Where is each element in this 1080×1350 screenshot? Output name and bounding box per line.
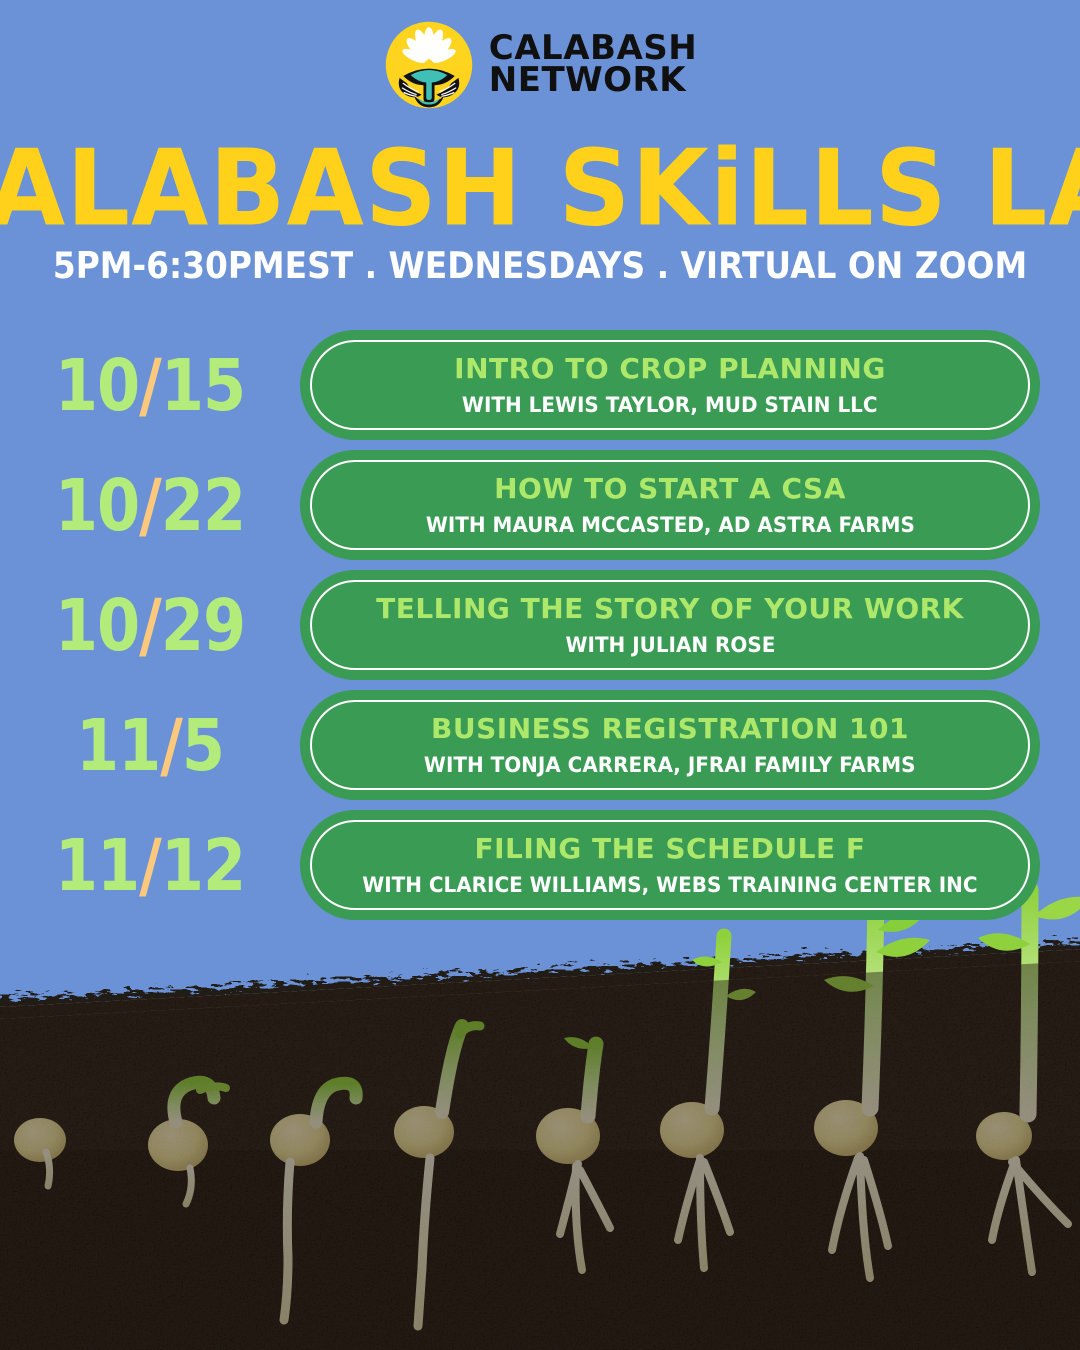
session-date-slash: / [139,583,161,667]
session-date-month: 11 [55,823,139,907]
session-date-slash: / [139,463,161,547]
page-subtitle: 5PM-6:30PMEST . WEDNESDAYS . VIRTUAL ON … [0,245,1080,287]
session-pill[interactable]: TELLING THE STORY OF YOUR WORKWITH JULIA… [300,570,1040,680]
session-date-day: 5 [182,703,224,787]
session-date: 10/29 [0,583,300,667]
seedling-stage-6 [660,936,756,1268]
seedling-stage-1 [14,1118,66,1186]
session-date: 10/22 [0,463,300,547]
session-row: 10/29TELLING THE STORY OF YOUR WORKWITH … [0,570,1080,680]
session-title: BUSINESS REGISTRATION 101 [431,715,909,743]
seedling-stage-3 [270,1083,356,1320]
session-title: FILING THE SCHEDULE F [475,835,866,863]
session-pill[interactable]: FILING THE SCHEDULE FWITH CLARICE WILLIA… [300,810,1040,920]
session-presenter: WITH JULIAN ROSE [565,635,775,656]
session-date: 10/15 [0,343,300,427]
session-pill[interactable]: INTRO TO CROP PLANNINGWITH LEWIS TAYLOR,… [300,330,1040,440]
brand-name-line2: NETWORK [489,65,697,97]
session-row: 10/15INTRO TO CROP PLANNINGWITH LEWIS TA… [0,330,1080,440]
session-date: 11/12 [0,823,300,907]
session-row: 10/22HOW TO START A CSAWITH MAURA MCCAST… [0,450,1080,560]
seedling-stage-7 [814,902,930,1278]
session-date-day: 12 [161,823,245,907]
seedling-stage-5 [536,1037,610,1270]
session-date: 11/5 [0,703,300,787]
session-date-slash: / [139,823,161,907]
session-presenter: WITH CLARICE WILLIAMS, WEBS TRAINING CEN… [362,875,977,896]
seedling-stage-4 [394,1026,480,1326]
session-date-month: 10 [55,583,139,667]
session-pill[interactable]: HOW TO START A CSAWITH MAURA MCCASTED, A… [300,450,1040,560]
page-title: CALABASH SKiLLS LAB [0,128,1080,250]
session-row: 11/12FILING THE SCHEDULE FWITH CLARICE W… [0,810,1080,920]
brand-logo-block: CALABASH NETWORK [0,14,1080,116]
session-presenter: WITH MAURA MCCASTED, AD ASTRA FARMS [425,515,914,536]
session-date-month: 11 [76,703,160,787]
session-date-month: 10 [55,463,139,547]
session-date-slash: / [139,343,161,427]
session-title: INTRO TO CROP PLANNING [454,355,886,383]
session-title: TELLING THE STORY OF YOUR WORK [376,595,964,623]
seedling-stage-8 [976,890,1080,1272]
session-row: 11/5BUSINESS REGISTRATION 101WITH TONJA … [0,690,1080,800]
session-date-month: 10 [55,343,139,427]
session-presenter: WITH LEWIS TAYLOR, MUD STAIN LLC [462,395,878,416]
session-date-day: 29 [161,583,245,667]
session-list: 10/15INTRO TO CROP PLANNINGWITH LEWIS TA… [0,330,1080,930]
session-presenter: WITH TONJA CARRERA, JFRAI FAMILY FARMS [424,755,916,776]
session-date-day: 15 [161,343,245,427]
calabash-network-logo-icon [383,19,475,111]
brand-wordmark: CALABASH NETWORK [489,33,697,96]
session-title: HOW TO START A CSA [494,475,846,503]
session-pill[interactable]: BUSINESS REGISTRATION 101WITH TONJA CARR… [300,690,1040,800]
session-date-day: 22 [161,463,245,547]
seedling-stage-2 [148,1082,226,1204]
session-date-slash: / [160,703,182,787]
